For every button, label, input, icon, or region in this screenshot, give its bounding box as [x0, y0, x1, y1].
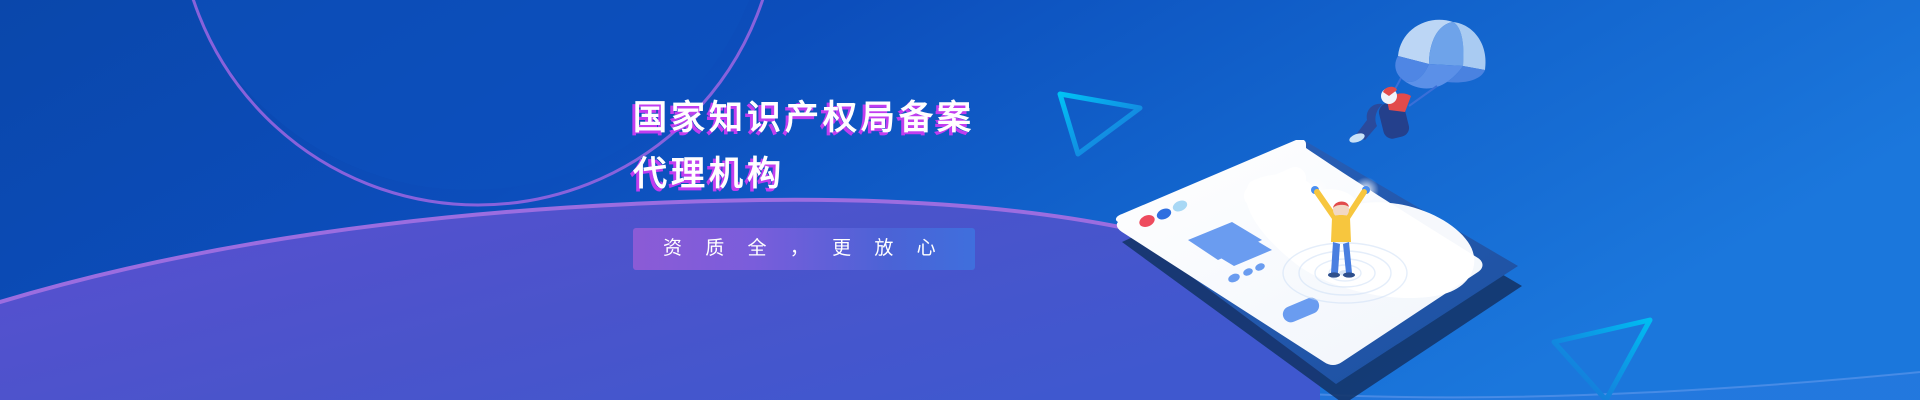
- banner-copy: 国家知识产权局备案 代理机构 资 质 全 ， 更 放 心: [633, 90, 1273, 270]
- person-shoe-left: [1328, 272, 1340, 277]
- status-badge: 资 质 全 ， 更 放 心: [633, 228, 975, 270]
- cyan-triangle-outline-bottom: [1538, 308, 1670, 400]
- page-title: 国家知识产权局备案 代理机构: [633, 90, 1273, 202]
- headline-line-1: 国家知识产权局备案: [633, 90, 1273, 146]
- headline-line-2: 代理机构: [633, 146, 1273, 202]
- parachute-line-right: [1409, 86, 1437, 106]
- person-shirt: [1331, 215, 1351, 242]
- person-shoe-right: [1343, 272, 1355, 277]
- promo-banner: 国家知识产权局备案 代理机构 资 质 全 ， 更 放 心: [0, 0, 1920, 400]
- parachuting-person: [1343, 8, 1503, 148]
